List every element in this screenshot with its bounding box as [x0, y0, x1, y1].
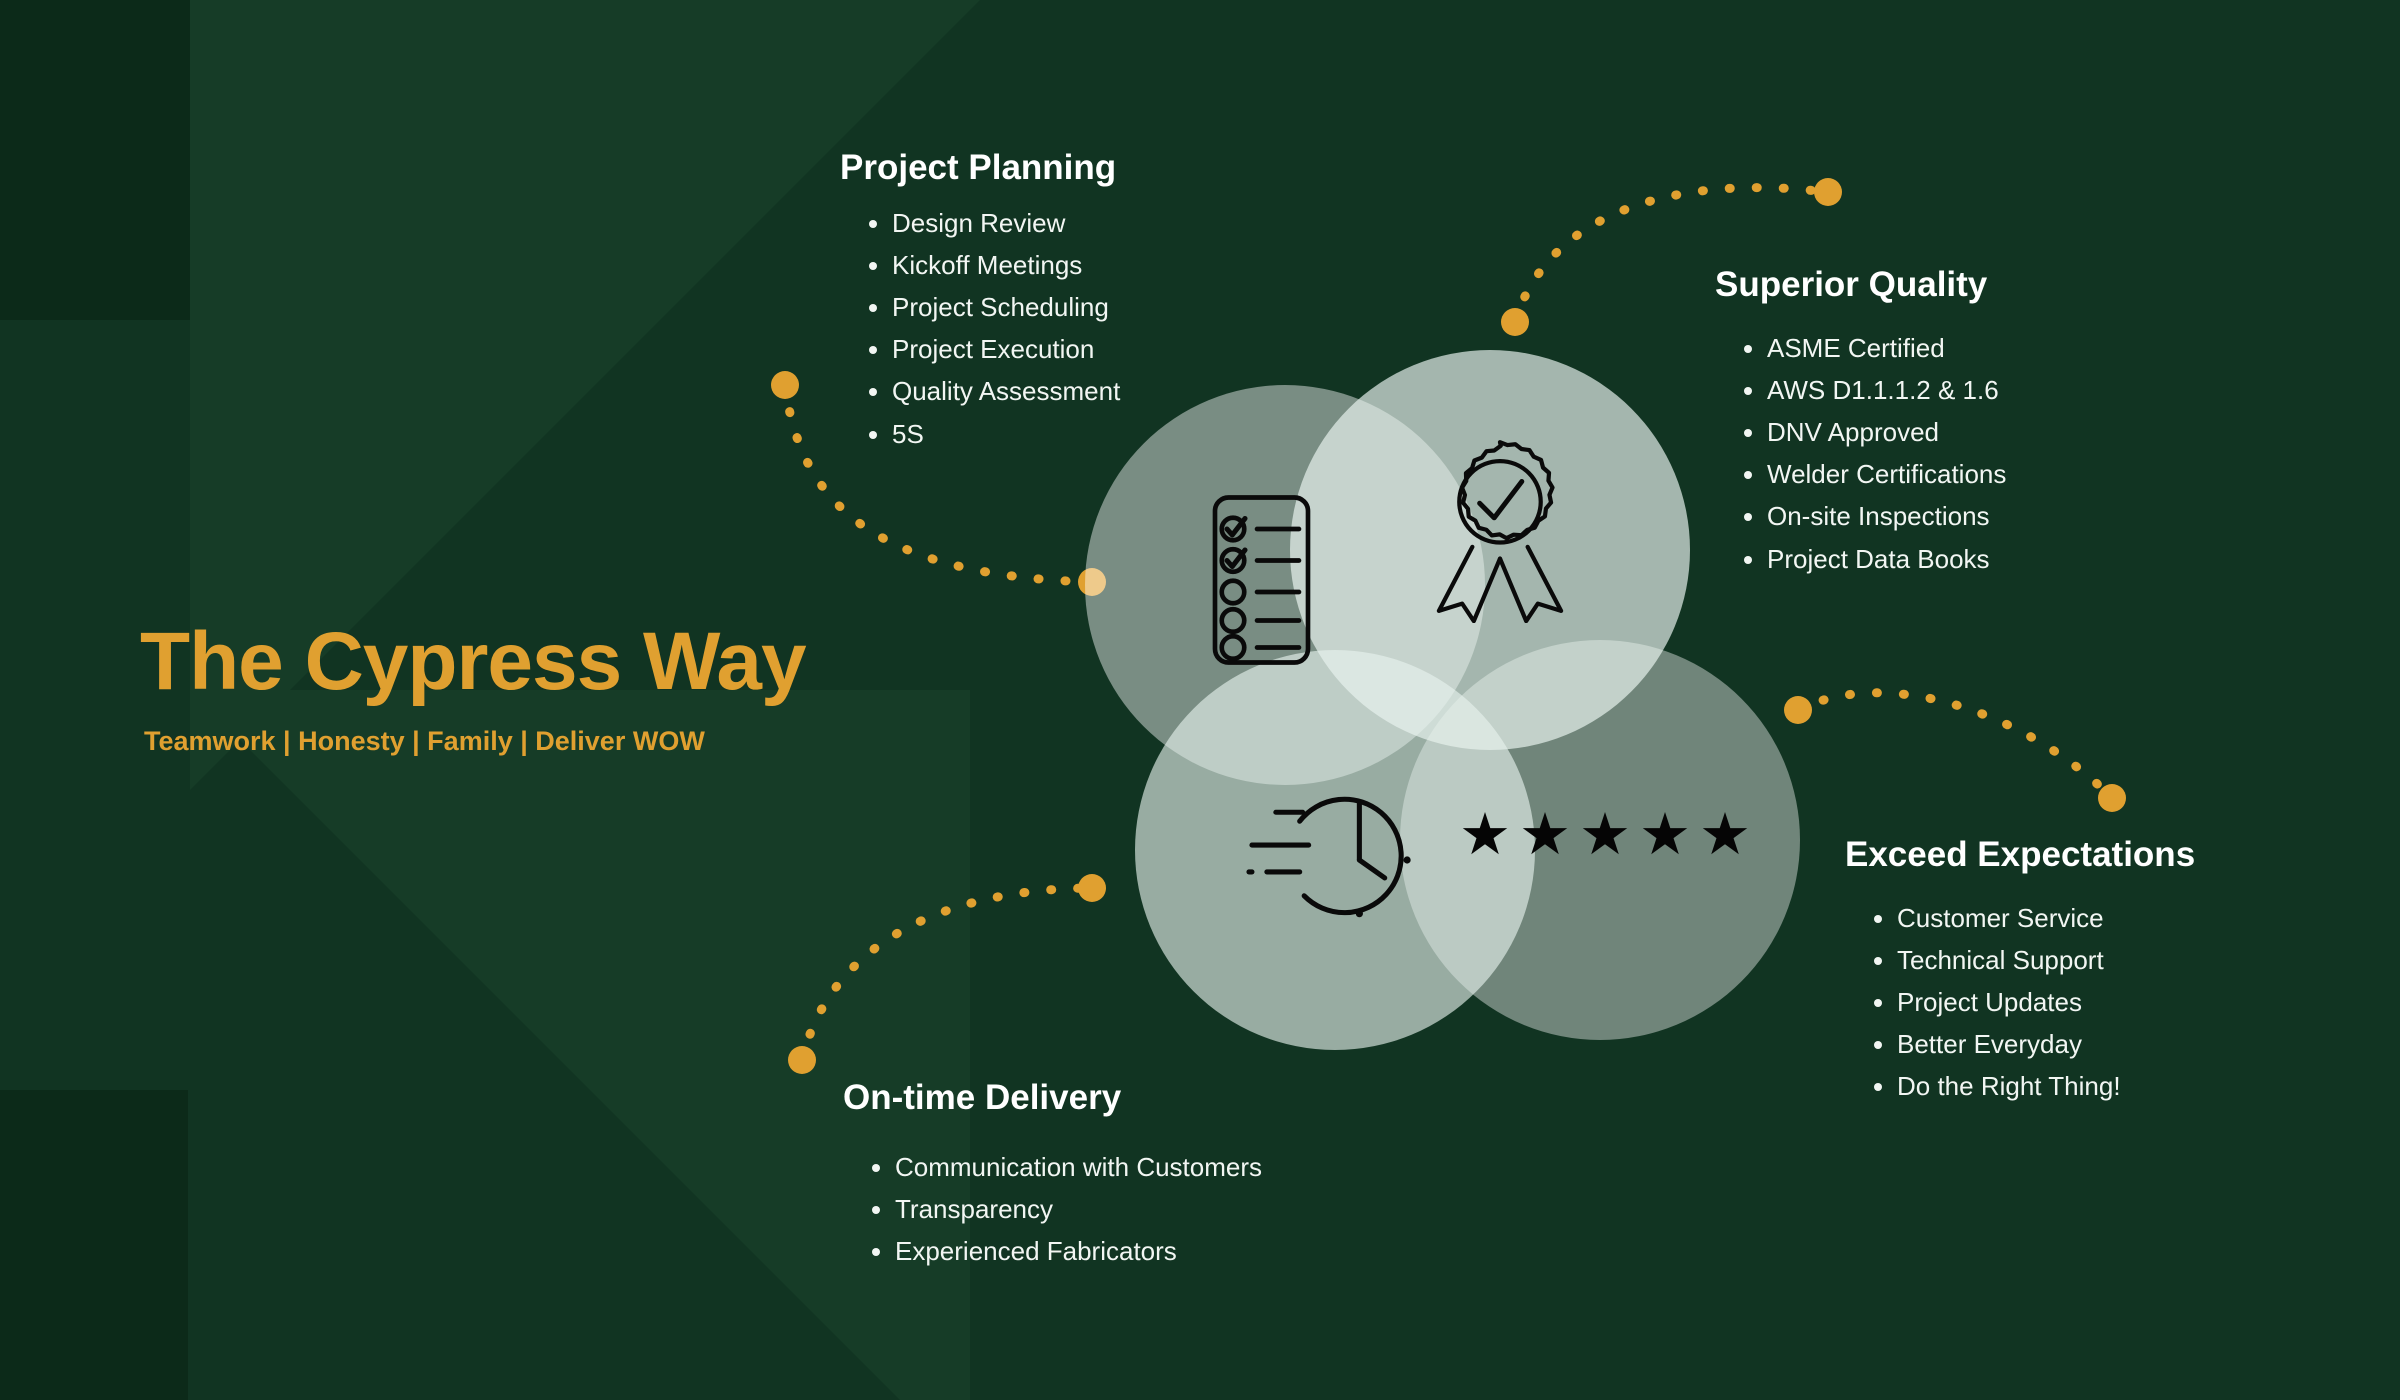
- bg-rect-bottom-left: [0, 1090, 188, 1400]
- group-project-planning: Project Planning Design ReviewKickoff Me…: [840, 148, 1120, 455]
- group-list-on-time-delivery: Communication with CustomersTransparency…: [843, 1146, 1262, 1272]
- list-item: Experienced Fabricators: [895, 1230, 1262, 1272]
- checklist-icon: [1178, 480, 1378, 680]
- list-item: Do the Right Thing!: [1897, 1065, 2195, 1107]
- list-item: Welder Certifications: [1767, 453, 2006, 495]
- group-exceed-expectations: Exceed Expectations Customer ServiceTech…: [1845, 835, 2195, 1108]
- list-item: Design Review: [892, 202, 1120, 244]
- list-item: Project Execution: [892, 328, 1120, 370]
- list-item: 5S: [892, 413, 1120, 455]
- group-on-time-delivery: On-time Delivery Communication with Cust…: [843, 1078, 1262, 1272]
- infographic-canvas: The Cypress Way Teamwork | Honesty | Fam…: [0, 0, 2400, 1400]
- bg-rect-top-left: [0, 0, 195, 320]
- group-heading-project-planning: Project Planning: [840, 148, 1120, 188]
- star-icon: ★: [1579, 806, 1631, 864]
- list-item: Technical Support: [1897, 939, 2195, 981]
- brand-tagline: Teamwork | Honesty | Family | Deliver WO…: [144, 726, 900, 757]
- stars-row: ★★★★★: [1459, 806, 1751, 864]
- list-item: Better Everyday: [1897, 1023, 2195, 1065]
- list-item: Kickoff Meetings: [892, 244, 1120, 286]
- list-item: DNV Approved: [1767, 411, 2006, 453]
- group-superior-quality: Superior Quality ASME CertifiedAWS D1.1.…: [1715, 265, 2006, 580]
- star-icon: ★: [1639, 806, 1691, 864]
- group-list-exceed-expectations: Customer ServiceTechnical SupportProject…: [1845, 897, 2195, 1108]
- list-item: AWS D1.1.1.2 & 1.6: [1767, 369, 2006, 411]
- list-item: Project Data Books: [1767, 538, 2006, 580]
- group-heading-superior-quality: Superior Quality: [1715, 265, 2006, 305]
- fast-clock-icon: [1225, 770, 1445, 950]
- list-item: Quality Assessment: [892, 370, 1120, 412]
- list-item: Project Updates: [1897, 981, 2195, 1023]
- group-heading-on-time-delivery: On-time Delivery: [843, 1078, 1262, 1118]
- group-list-project-planning: Design ReviewKickoff MeetingsProject Sch…: [840, 202, 1120, 455]
- bg-triangle-lower: [190, 690, 970, 1400]
- brand-title-block: The Cypress Way Teamwork | Honesty | Fam…: [140, 620, 900, 757]
- list-item: ASME Certified: [1767, 327, 2006, 369]
- list-item: Project Scheduling: [892, 286, 1120, 328]
- star-icon: ★: [1459, 806, 1511, 864]
- group-list-superior-quality: ASME CertifiedAWS D1.1.1.2 & 1.6DNV Appr…: [1715, 327, 2006, 580]
- award-ribbon-icon: [1400, 428, 1600, 628]
- list-item: Customer Service: [1897, 897, 2195, 939]
- page-title: The Cypress Way: [140, 620, 900, 704]
- star-icon: ★: [1699, 806, 1751, 864]
- circle-cluster: ★★★★★: [1080, 350, 1820, 1070]
- five-stars-icon: ★★★★★: [1465, 790, 1745, 880]
- list-item: Transparency: [895, 1188, 1262, 1230]
- list-item: Communication with Customers: [895, 1146, 1262, 1188]
- group-heading-exceed-expectations: Exceed Expectations: [1845, 835, 2195, 875]
- list-item: On-site Inspections: [1767, 495, 2006, 537]
- star-icon: ★: [1519, 806, 1571, 864]
